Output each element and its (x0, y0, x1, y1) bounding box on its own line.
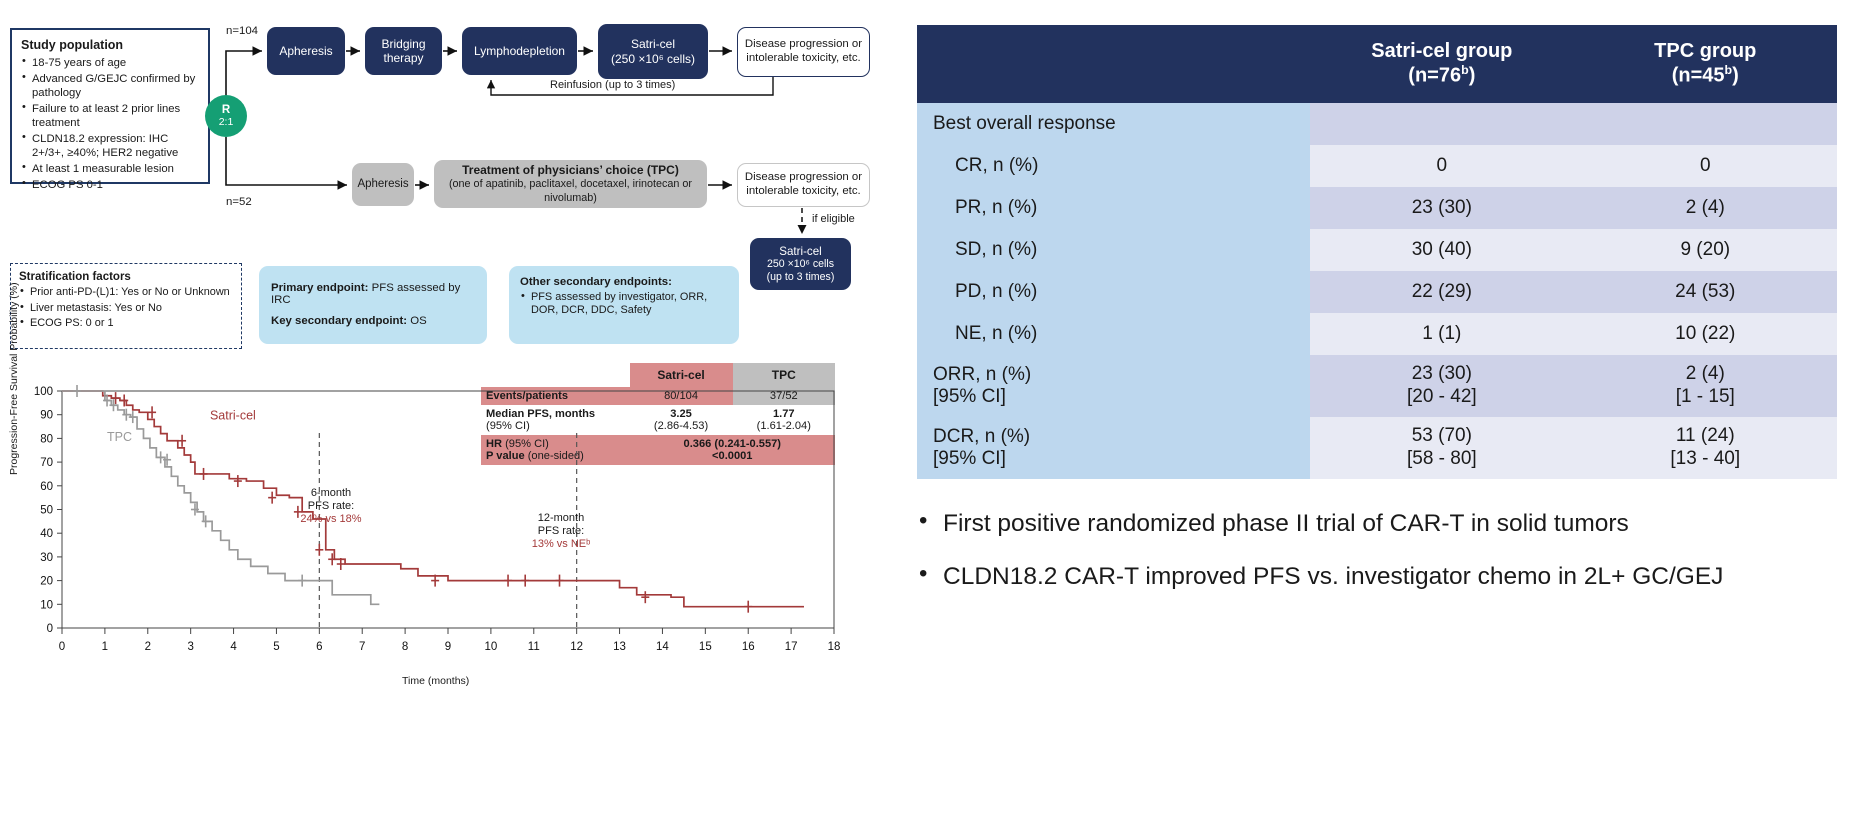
n-top-label: n=104 (226, 25, 258, 37)
svg-text:50: 50 (40, 505, 53, 517)
flow-box-crossover-satricel: Satri-cel 250 ×10⁶ cells (up to 3 times) (750, 238, 851, 290)
annotation-title: 6-month (276, 487, 386, 500)
svg-text:0: 0 (47, 623, 53, 635)
table-row: Best overall response (917, 103, 1837, 145)
stratification-list: Prior anti-PD-(L)1: Yes or No or Unknown… (19, 286, 233, 331)
other-endpoints-list: PFS assessed by investigator, ORR, DOR, … (520, 291, 728, 318)
randomization-ratio: 2:1 (219, 117, 234, 128)
response-row-tpc: 10 (22) (1574, 313, 1837, 355)
y-axis-label: Progression-Free Survival Probability (%… (8, 282, 20, 475)
response-row-satricel: 23 (30)[20 - 42] (1310, 355, 1573, 417)
list-item: CLDN18.2 CAR-T improved PFS vs. investig… (917, 561, 1847, 592)
tpc-title: Treatment of physicians’ choice (TPC) (462, 163, 679, 178)
tpc-subtitle: (one of apatinib, paclitaxel, docetaxel,… (440, 178, 701, 205)
response-row-label: Best overall response (917, 103, 1310, 145)
svg-text:11: 11 (528, 641, 540, 653)
satricel-title: Satri-cel (611, 37, 695, 51)
n-bottom-label: n=52 (226, 196, 252, 208)
crossover-times: (up to 3 times) (767, 271, 835, 284)
response-row-satricel (1310, 103, 1573, 145)
svg-text:6: 6 (316, 641, 322, 653)
svg-text:9: 9 (445, 641, 451, 653)
randomization-letter: R (222, 104, 230, 116)
list-item: Prior anti-PD-(L)1: Yes or No or Unknown (19, 286, 233, 300)
annotation-title: 12-month (506, 512, 616, 525)
reinfusion-label: Reinfusion (up to 3 times) (550, 79, 675, 91)
table-row: DCR, n (%)[95% CI]53 (70)[58 - 80]11 (24… (917, 417, 1837, 479)
svg-text:12: 12 (570, 641, 583, 653)
response-col-tpc: TPC group(n=45b) (1574, 25, 1837, 103)
svg-text:4: 4 (230, 641, 237, 653)
svg-text:30: 30 (40, 552, 53, 564)
svg-text:40: 40 (40, 528, 53, 540)
list-item: Liver metastasis: Yes or No (19, 302, 233, 316)
response-row-label: ORR, n (%)[95% CI] (917, 355, 1310, 417)
response-row-label: CR, n (%) (917, 145, 1310, 187)
primary-endpoint-line: Primary endpoint: PFS assessed by IRC (271, 282, 475, 306)
response-col-satricel: Satri-cel group(n=76b) (1310, 25, 1573, 103)
svg-text:10: 10 (484, 641, 497, 653)
response-row-label: DCR, n (%)[95% CI] (917, 417, 1310, 479)
randomization-node: R 2:1 (205, 95, 247, 137)
response-row-satricel: 1 (1) (1310, 313, 1573, 355)
svg-text:14: 14 (656, 641, 669, 653)
list-item: ECOG PS: 0 or 1 (19, 317, 233, 331)
response-row-label: PR, n (%) (917, 187, 1310, 229)
response-row-satricel: 30 (40) (1310, 229, 1573, 271)
response-row-tpc (1574, 103, 1837, 145)
svg-text:8: 8 (402, 641, 408, 653)
crossover-dose: 250 ×10⁶ cells (767, 258, 834, 271)
response-table: Satri-cel group(n=76b)TPC group(n=45b)Be… (917, 25, 1837, 479)
km-plot: Progression-Free Survival Probability (%… (14, 383, 844, 703)
flow-box-lymphodepletion: Lymphodepletion (462, 27, 577, 75)
key-secondary-label: Key secondary endpoint: (271, 315, 407, 327)
svg-text:15: 15 (699, 641, 712, 653)
svg-text:20: 20 (40, 576, 53, 588)
svg-text:17: 17 (785, 641, 798, 653)
primary-endpoint-label: Primary endpoint: (271, 282, 368, 294)
table-row: CR, n (%)00 (917, 145, 1837, 187)
table-row: SD, n (%)30 (40)9 (20) (917, 229, 1837, 271)
svg-text:2: 2 (145, 641, 151, 653)
annotation-value: 13% vs NEᵇ (506, 538, 616, 551)
svg-text:10: 10 (40, 599, 53, 611)
primary-endpoint-box: Primary endpoint: PFS assessed by IRC Ke… (259, 266, 487, 344)
flow-box-bridging-therapy: Bridging therapy (365, 27, 442, 75)
flow-box-satricel: Satri-cel (250 ×10⁶ cells) (598, 24, 708, 79)
list-item: PFS assessed by investigator, ORR, DOR, … (520, 291, 728, 318)
svg-text:3: 3 (187, 641, 193, 653)
response-row-label: SD, n (%) (917, 229, 1310, 271)
response-row-tpc: 0 (1574, 145, 1837, 187)
annotation-subtitle: PFS rate: (276, 500, 386, 513)
response-row-tpc: 2 (4)[1 - 15] (1574, 355, 1837, 417)
flow-box-progression-bottom: Disease progression or intolerable toxic… (737, 163, 870, 207)
response-row-label: PD, n (%) (917, 271, 1310, 313)
response-row-tpc: 24 (53) (1574, 271, 1837, 313)
table-row: PR, n (%)23 (30)2 (4) (917, 187, 1837, 229)
stratification-title: Stratification factors (19, 271, 233, 283)
key-secondary-endpoint-line: Key secondary endpoint: OS (271, 315, 475, 327)
stratification-box: Stratification factors Prior anti-PD-(L)… (10, 263, 242, 349)
table-row: PD, n (%)22 (29)24 (53) (917, 271, 1837, 313)
list-item: First positive randomized phase II trial… (917, 508, 1847, 539)
svg-text:7: 7 (359, 641, 365, 653)
x-axis-label: Time (months) (402, 675, 469, 687)
svg-text:TPC: TPC (107, 430, 132, 444)
annotation-value: 24% vs 18% (276, 513, 386, 526)
response-row-satricel: 53 (70)[58 - 80] (1310, 417, 1573, 479)
svg-text:1: 1 (102, 641, 108, 653)
svg-text:18: 18 (828, 641, 841, 653)
svg-text:70: 70 (40, 457, 53, 469)
flow-box-tpc: Treatment of physicians’ choice (TPC) (o… (434, 160, 707, 208)
if-eligible-label: if eligible (812, 213, 855, 225)
annotation-6-month: 6-month PFS rate: 24% vs 18% (276, 487, 386, 527)
flow-box-progression-top: Disease progression or intolerable toxic… (737, 27, 870, 77)
response-row-satricel: 22 (29) (1310, 271, 1573, 313)
svg-text:16: 16 (742, 641, 755, 653)
svg-text:60: 60 (40, 481, 53, 493)
svg-text:90: 90 (40, 410, 53, 422)
response-col-blank (917, 25, 1310, 103)
table-row: NE, n (%)1 (1)10 (22) (917, 313, 1837, 355)
response-row-satricel: 23 (30) (1310, 187, 1573, 229)
satricel-dose: (250 ×10⁶ cells) (611, 52, 695, 66)
svg-text:5: 5 (273, 641, 279, 653)
summary-bullets: First positive randomized phase II trial… (917, 508, 1847, 615)
svg-text:80: 80 (40, 433, 53, 445)
response-row-tpc: 9 (20) (1574, 229, 1837, 271)
flow-box-apheresis-top: Apheresis (267, 27, 345, 75)
response-row-label: NE, n (%) (917, 313, 1310, 355)
table-header-row: Satri-cel group(n=76b)TPC group(n=45b) (917, 25, 1837, 103)
other-endpoints-box: Other secondary endpoints: PFS assessed … (509, 266, 739, 344)
annotation-subtitle: PFS rate: (506, 525, 616, 538)
response-row-tpc: 2 (4) (1574, 187, 1837, 229)
response-row-tpc: 11 (24)[13 - 40] (1574, 417, 1837, 479)
km-svg-canvas: 0102030405060708090100012345678910111213… (14, 383, 844, 673)
svg-text:0: 0 (59, 641, 65, 653)
svg-text:100: 100 (34, 386, 53, 398)
table-row: ORR, n (%)[95% CI]23 (30)[20 - 42]2 (4)[… (917, 355, 1837, 417)
other-endpoints-title: Other secondary endpoints: (520, 276, 728, 288)
crossover-title: Satri-cel (779, 245, 822, 259)
flow-box-apheresis-bottom: Apheresis (352, 163, 414, 206)
key-secondary-value: OS (407, 315, 427, 327)
svg-text:13: 13 (613, 641, 626, 653)
svg-text:Satri-cel: Satri-cel (210, 408, 256, 422)
response-row-satricel: 0 (1310, 145, 1573, 187)
slide-root: Study population 18-75 years of age Adva… (0, 0, 1864, 818)
annotation-12-month: 12-month PFS rate: 13% vs NEᵇ (506, 512, 616, 552)
